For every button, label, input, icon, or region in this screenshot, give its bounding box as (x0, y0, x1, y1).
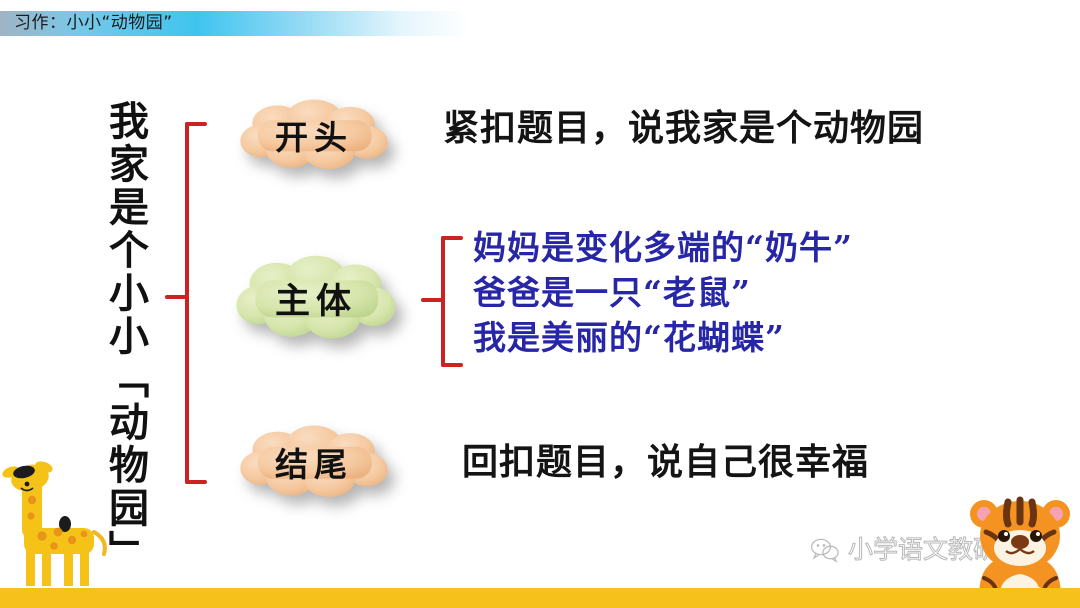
bracket-bottom-tip (185, 480, 207, 484)
cloud-label-jiewei: 结尾 (275, 438, 353, 486)
bracket-stem (165, 295, 187, 299)
bracket-top-tip (441, 236, 463, 240)
content-text-zhuti-group: 妈妈是变化多端的“奶牛” 爸爸是一只“老鼠” 我是美丽的“花蝴蝶” (473, 225, 853, 360)
content-text-zhuti-line-1: 妈妈是变化多端的“奶牛” (473, 225, 853, 270)
cloud-label-kaitou: 开头 (275, 111, 353, 159)
bracket-stem (421, 298, 443, 302)
bracket-bottom-tip (441, 363, 463, 367)
cloud-shape-kaitou[interactable]: 开头 (238, 98, 390, 172)
giraffe-icon (2, 440, 120, 590)
page-title: 习作：小小“动物园” (14, 12, 173, 35)
slide-canvas: 习作：小小“动物园” 我家是个小小「动物园」 (0, 0, 1080, 608)
content-text-kaitou: 紧扣题目，说我家是个动物园 (443, 104, 924, 152)
cloud-shape-jiewei[interactable]: 结尾 (238, 424, 390, 500)
wechat-icon (810, 537, 840, 563)
bottom-accent-bar (0, 588, 1080, 608)
bracket-top-tip (185, 122, 207, 126)
content-text-zhuti-line-2: 爸爸是一只“老鼠” (473, 270, 853, 315)
cloud-label-zhuti: 主体 (275, 273, 357, 324)
content-text-jiewei: 回扣题目，说自己很幸福 (462, 438, 869, 486)
cloud-shape-zhuti[interactable]: 主体 (234, 254, 398, 342)
bracket-vertical-bar (185, 122, 189, 484)
content-text-zhuti-line-3: 我是美丽的“花蝴蝶” (473, 315, 853, 360)
